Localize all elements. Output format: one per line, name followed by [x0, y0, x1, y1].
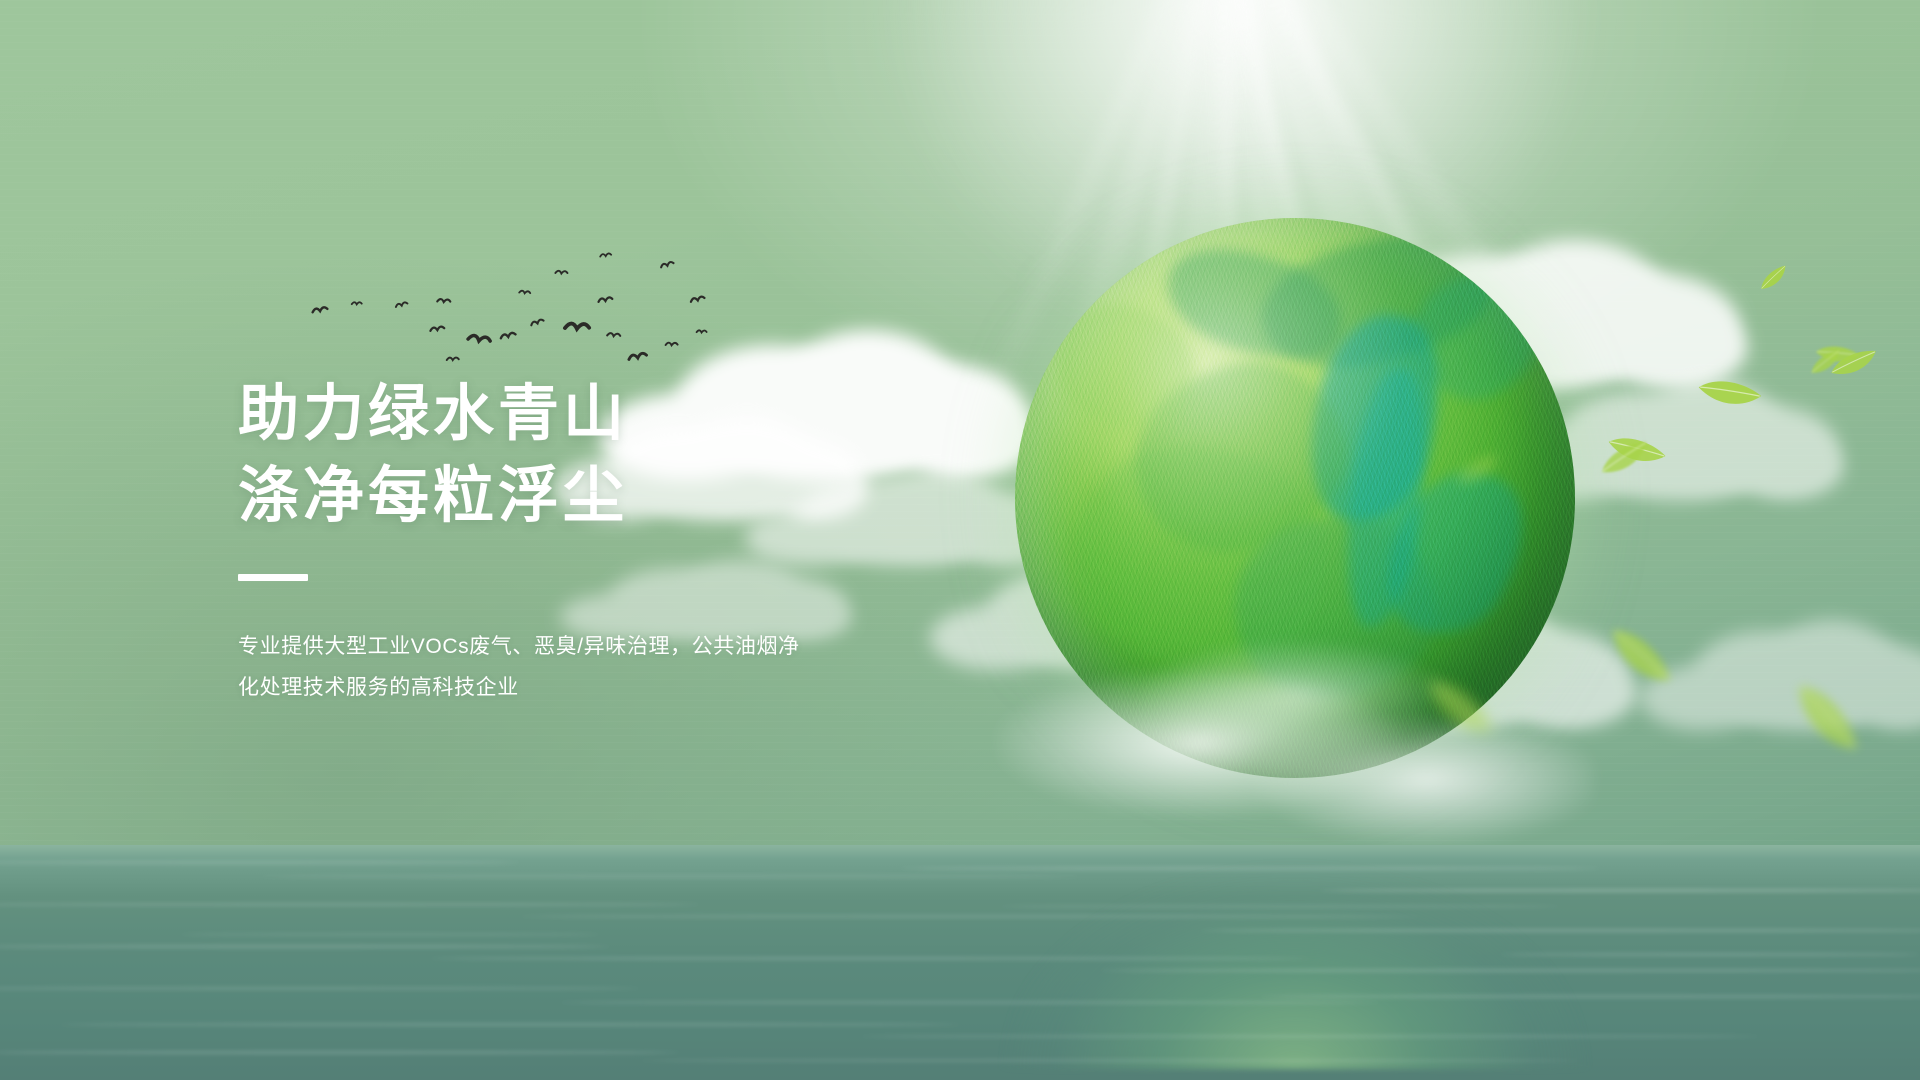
water-ripple-8	[430, 957, 1310, 960]
water-ripple-0	[0, 861, 520, 864]
water-ripple-2	[900, 867, 1600, 870]
hero-banner: 助力绿水青山 涤净每粒浮尘 专业提供大型工业VOCs废气、恶臭/异味治理，公共油…	[0, 0, 1920, 1080]
subtitle-line-2: 化处理技术服务的高科技企业	[238, 668, 878, 709]
divider-rule	[238, 574, 308, 581]
water-ripple-3	[1320, 889, 1920, 892]
water-ripple-17	[1000, 905, 1560, 908]
banner-copy: 助力绿水青山 涤净每粒浮尘 专业提供大型工业VOCs废气、恶臭/异味治理，公共油…	[238, 378, 958, 709]
globe-sphere	[1015, 218, 1575, 778]
water-ripple-5	[520, 915, 1420, 918]
headline-line-1: 助力绿水青山	[238, 378, 958, 448]
banner-subtitle: 专业提供大型工业VOCs废气、恶臭/异味治理，公共油烟净 化处理技术服务的高科技…	[238, 627, 878, 709]
water-ripple-12	[1260, 995, 1920, 998]
subtitle-line-1: 专业提供大型工业VOCs废气、恶臭/异味治理，公共油烟净	[238, 627, 878, 668]
water-ripple-7	[0, 945, 610, 948]
water-surface	[0, 845, 1920, 1080]
water-ripple-13	[60, 1023, 960, 1026]
water-ripple-16	[640, 1059, 1580, 1062]
water-ripples	[0, 845, 1920, 1080]
water-ripple-18	[180, 933, 600, 936]
water-ripple-6	[1200, 929, 1920, 932]
water-ripple-9	[1100, 969, 1920, 972]
water-ripple-15	[0, 1051, 680, 1054]
water-ripple-11	[560, 1001, 1380, 1004]
water-ripple-19	[1500, 953, 1920, 956]
earth-globe-icon	[1015, 218, 1575, 842]
water-ripple-4	[0, 903, 700, 906]
water-ripple-1	[260, 875, 1080, 878]
water-ripple-10	[0, 987, 640, 990]
headline-line-2: 涤净每粒浮尘	[238, 460, 958, 530]
globe-shading	[1015, 218, 1575, 778]
water-ripple-14	[860, 1035, 1760, 1038]
